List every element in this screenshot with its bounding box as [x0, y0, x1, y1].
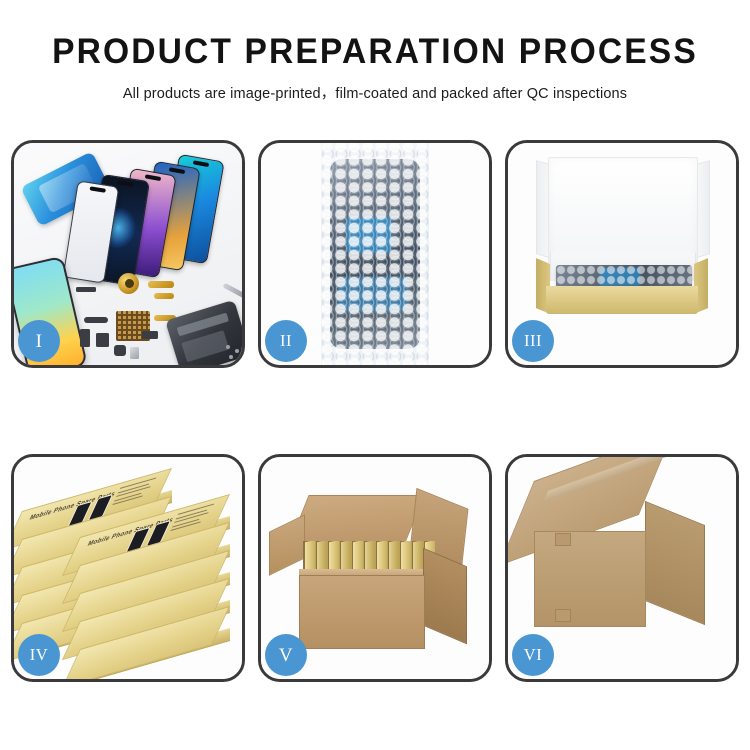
flex-cable-gold-2: [154, 293, 174, 299]
metal-bracket-part: [130, 347, 139, 359]
process-step-6: VI: [505, 454, 739, 682]
page-title: PRODUCT PREPARATION PROCESS: [15, 34, 735, 71]
tweezers-tool: [222, 283, 242, 301]
camera-module-part: [114, 345, 126, 356]
button-flex-part: [142, 331, 158, 339]
wrapped-phone-part: [330, 159, 420, 349]
carton-front-panel: [299, 575, 425, 649]
step-badge-4: IV: [18, 634, 60, 676]
step-badge-6: VI: [512, 634, 554, 676]
step-badge-1: I: [18, 320, 60, 362]
sealed-carton-front: [534, 531, 646, 627]
carton-handle-tab-top: [555, 533, 571, 546]
product-preparation-infographic: PRODUCT PREPARATION PROCESS All products…: [0, 0, 750, 750]
step-badge-5: V: [265, 634, 307, 676]
speaker-mesh-part: [76, 287, 96, 292]
connector-part-2: [96, 333, 109, 347]
vibration-motor-part: [118, 273, 139, 294]
process-step-1: I: [11, 140, 245, 368]
process-step-2: II: [258, 140, 492, 368]
screws-group: [226, 345, 242, 361]
process-step-3: III: [505, 140, 739, 368]
carton-handle-tab-bottom: [555, 609, 571, 622]
inner-box-front-5: [80, 649, 230, 679]
page-subtitle: All products are image-printed，film-coat…: [0, 82, 750, 103]
box-front-panel: [546, 286, 698, 314]
process-step-4: Mobile Phone Spare Parts: [11, 454, 245, 682]
process-step-5: V: [258, 454, 492, 682]
flex-cable-gold-1: [148, 281, 174, 288]
step-badge-2: II: [265, 320, 307, 362]
carton-flap-back: [289, 495, 424, 543]
step-badge-3: III: [512, 320, 554, 362]
process-step-grid: I II: [11, 140, 739, 682]
box-lid-back: [548, 157, 698, 263]
phone-screen-fan: [72, 155, 242, 275]
header: PRODUCT PREPARATION PROCESS All products…: [0, 0, 750, 103]
spare-parts-group: [76, 271, 242, 365]
flex-cable-dark-1: [84, 317, 108, 323]
connector-part-1: [80, 329, 90, 347]
